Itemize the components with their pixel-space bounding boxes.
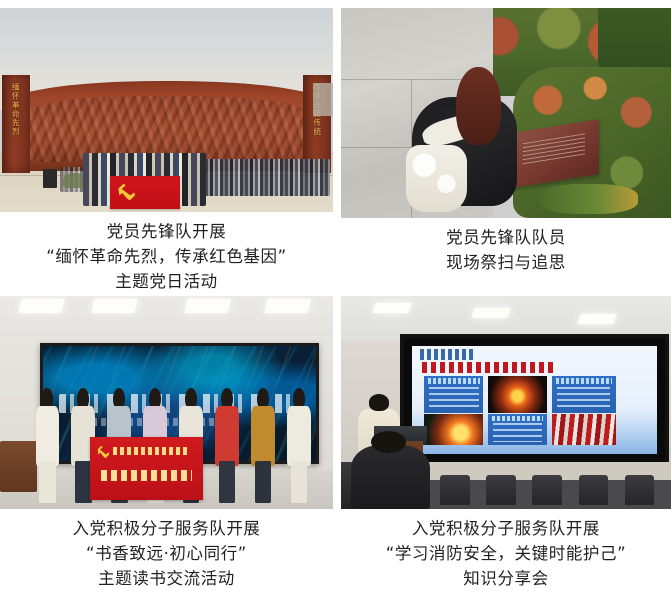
wooden-podium [0, 441, 37, 492]
student [285, 388, 313, 503]
crowd-right [200, 159, 330, 196]
reading-group-photo [0, 296, 333, 509]
left-pillar: 缅怀革命先烈 [2, 75, 30, 173]
collage-cell-top-left: 缅怀革命先烈 传承光荣传统 党员先锋队开展 “缅怀革命先烈，传承红色基因” 主题… [0, 0, 336, 294]
caption-line: “学习消防安全，关键时能护己” [341, 541, 671, 566]
panel-body [429, 387, 478, 410]
caption-top-left: 党员先锋队开展 “缅怀革命先烈，传承红色基因” 主题党日活动 [0, 212, 333, 294]
chair [579, 475, 609, 505]
student-legs [255, 461, 272, 502]
flowers [539, 184, 638, 213]
grave-tending-photo [341, 8, 671, 218]
student-legs [291, 461, 308, 502]
student-torso [215, 406, 238, 466]
student-torso [287, 406, 310, 466]
ceiling-light [185, 299, 232, 313]
slide-text-panel [488, 414, 547, 444]
projection-screen [400, 334, 669, 466]
caption-line: 入党积极分子服务队开展 [0, 516, 333, 541]
party-flag [110, 176, 180, 209]
caption-line: “缅怀革命先烈，传承红色基因” [0, 244, 333, 269]
collage-cell-bottom-left: 入党积极分子服务队开展 “书香致远·初心同行” 主题读书交流活动 [0, 294, 336, 600]
photo-collage-page: 缅怀革命先烈 传承光荣传统 党员先锋队开展 “缅怀革命先烈，传承红色基因” 主题… [0, 0, 671, 600]
student-torso [36, 406, 59, 466]
student-legs [39, 461, 56, 502]
presentation-slide [412, 346, 657, 455]
chair [486, 475, 516, 505]
caption-bottom-left: 入党积极分子服务队开展 “书香致远·初心同行” 主题读书交流活动 [0, 509, 333, 591]
caption-line: 主题读书交流活动 [0, 566, 333, 591]
university-logo [420, 349, 474, 360]
chair [440, 475, 470, 505]
left-pillar-text: 缅怀革命先烈 [11, 83, 20, 136]
banner-text-bottom [101, 470, 192, 482]
slide-fire-image [488, 376, 547, 413]
panel-header [428, 378, 480, 384]
plaza-marker [43, 169, 56, 187]
caption-line: “书香致远·初心同行” [0, 541, 333, 566]
slide-text-panel [424, 376, 483, 413]
audience-head [371, 431, 406, 453]
ceiling-light [265, 299, 312, 313]
caption-line: 党员先锋队队员 [341, 225, 671, 250]
student-torso [251, 406, 274, 466]
panel-body [493, 423, 542, 442]
ceiling-light [18, 299, 65, 313]
person-bending [404, 67, 536, 218]
service-team-banner [90, 437, 203, 501]
photo-grid: 缅怀革命先烈 传承光荣传统 党员先锋队开展 “缅怀革命先烈，传承红色基因” 主题… [0, 0, 671, 600]
collage-cell-bottom-right: 入党积极分子服务队开展 “学习消防安全，关键时能护己” 知识分享会 [336, 294, 671, 600]
caption-line: 入党积极分子服务队开展 [341, 516, 671, 541]
presenter-head [369, 394, 390, 411]
knit-bag [406, 145, 467, 212]
student-legs [219, 461, 236, 502]
student [33, 388, 61, 503]
caption-line: 党员先锋队开展 [0, 219, 333, 244]
student [213, 388, 241, 503]
memorial-monument-photo: 缅怀革命先烈 传承光荣传统 [0, 8, 333, 212]
student [249, 388, 277, 503]
slide-text-panel [552, 376, 616, 413]
ceiling-light [577, 314, 617, 324]
caption-line: 知识分享会 [341, 566, 671, 591]
ceiling [0, 296, 333, 339]
long-hair [456, 67, 501, 146]
panel-body [557, 387, 611, 410]
collage-cell-top-right: 党员先锋队队员 现场祭扫与追思 [336, 0, 671, 294]
chair [532, 475, 562, 505]
hammer-sickle-icon [97, 446, 109, 459]
ceiling-light [91, 299, 138, 313]
slide-extinguisher-image [552, 414, 616, 444]
caption-top-right: 党员先锋队队员 现场祭扫与追思 [341, 218, 671, 275]
fire-safety-lecture-photo [341, 296, 671, 509]
ceiling-light [471, 308, 511, 318]
slide-title-text [422, 362, 554, 373]
chair [625, 475, 655, 505]
ceiling-light [372, 303, 412, 313]
slide-fire-image [424, 414, 483, 444]
caption-line: 现场祭扫与追思 [341, 250, 671, 275]
background-building [313, 83, 333, 116]
panel-header [492, 416, 544, 421]
panel-header [556, 378, 612, 384]
banner-text-top [113, 447, 188, 455]
hammer-sickle-icon [117, 184, 135, 201]
audience-member [351, 445, 430, 509]
caption-line: 主题党日活动 [0, 269, 333, 294]
caption-bottom-right: 入党积极分子服务队开展 “学习消防安全，关键时能护己” 知识分享会 [341, 509, 671, 591]
